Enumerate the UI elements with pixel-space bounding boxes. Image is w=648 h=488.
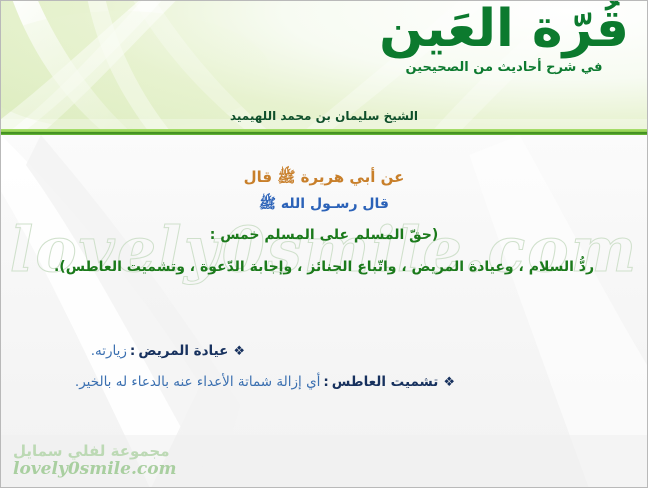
author-name: الشيخ سليمان بن محمد اللهيميد (230, 109, 418, 123)
footer-watermark: مجموعة لفلي سمايل lovely0smile.com (13, 444, 177, 479)
hadith-text-line-2: ردُّ السلام ، وعيادة المريض ، واتّباع ال… (1, 259, 647, 275)
list-item-separator: : (323, 374, 328, 390)
explanation-list: ❖ عيادة المريض : زيارته. ❖ تشميت العاطس … (9, 343, 637, 405)
hadith-text-line-1: (حقّ المسلم على المسلم خمس : (1, 227, 647, 243)
list-item: ❖ عيادة المريض : زيارته. (9, 343, 637, 359)
prophet-saying-line: قال رسـول الله ﷺ (1, 195, 647, 215)
list-item: ❖ تشميت العاطس : أي إزالة شماتة الأعداء … (9, 374, 637, 390)
brand-title: قُرّة العَين (379, 3, 629, 55)
header-banner: قُرّة العَين في شرح أحاديث من الصحيحين ا… (1, 1, 647, 134)
author-line: الشيخ سليمان بن محمد اللهيميد (1, 105, 647, 124)
diamond-bullet-icon: ❖ (233, 345, 245, 358)
diamond-bullet-icon: ❖ (443, 376, 455, 389)
slide-root: قُرّة العَين في شرح أحاديث من الصحيحين ا… (0, 0, 648, 488)
list-item-description: زيارته. (91, 343, 127, 359)
list-item-term: تشميت العاطس (332, 374, 439, 390)
footer-website-text: lovely0smile.com (13, 461, 177, 479)
brand-subtitle: في شرح أحاديث من الصحيحين (379, 61, 629, 74)
brand-logo: قُرّة العَين في شرح أحاديث من الصحيحين (379, 3, 629, 74)
footer-arabic-text: مجموعة لفلي سمايل (13, 444, 177, 460)
body-watermark: lovely0smile.com (1, 213, 647, 286)
list-item-term: عيادة المريض (138, 343, 228, 359)
content-area: lovely0smile.com عن أبي هريرة ﷺ قال قال … (1, 135, 647, 488)
header-divider (1, 129, 647, 135)
narrator-line: عن أبي هريرة ﷺ قال (1, 168, 647, 190)
list-item-separator: : (130, 343, 135, 359)
list-item-description: أي إزالة شماتة الأعداء عنه بالدعاء له با… (75, 374, 320, 390)
